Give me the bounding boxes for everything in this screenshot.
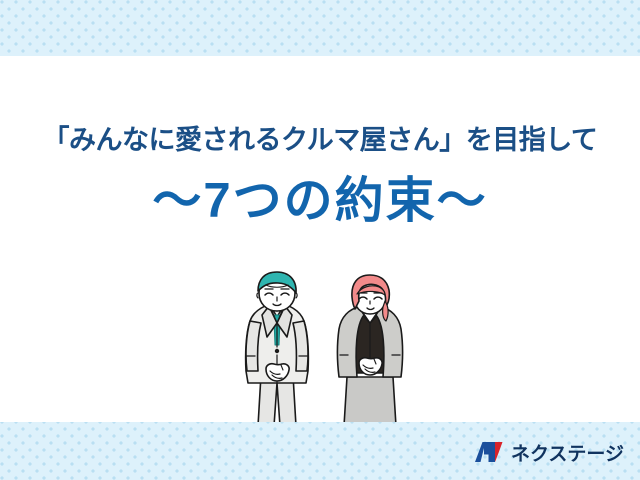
content-panel: 「みんなに愛されるクルマ屋さん」を目指して 〜7つの約束〜 [0,56,640,422]
headline-block: 「みんなに愛されるクルマ屋さん」を目指して 〜7つの約束〜 [0,56,640,226]
nextage-n-mark [475,441,505,468]
headline-line-2: 〜7つの約束〜 [0,154,640,226]
female-staff-figure [338,275,403,422]
male-staff-figure [246,272,309,422]
bowing-staff-illustration [236,271,436,422]
nextage-wordmark: ネクステージ [511,445,624,464]
nextage-logo: ネクステージ [475,441,624,468]
slide-background: 「みんなに愛されるクルマ屋さん」を目指して 〜7つの約束〜 [0,0,640,480]
headline-line-1: 「みんなに愛されるクルマ屋さん」を目指して [0,56,640,154]
